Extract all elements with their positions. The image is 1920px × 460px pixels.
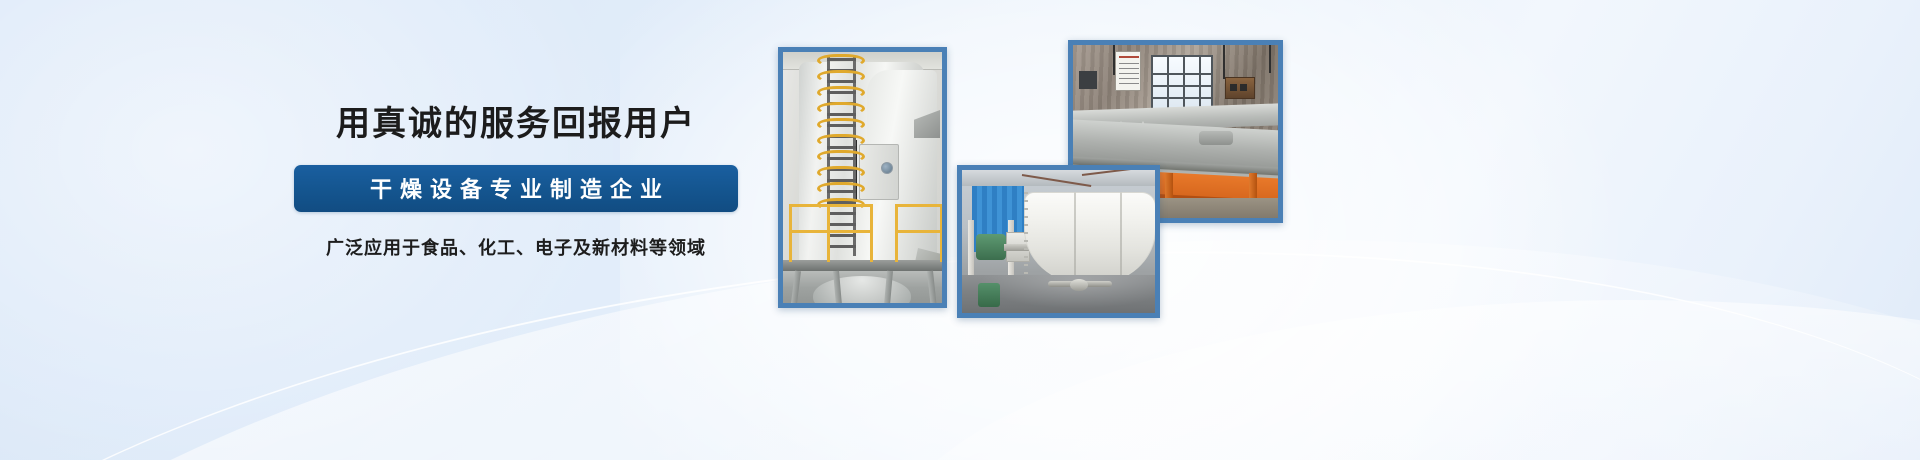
guardrail-midbar-right — [895, 230, 942, 233]
ribbon-mixer-scene — [962, 170, 1155, 313]
hero-tagline-bar: 干燥设备专业制造企业 — [294, 165, 738, 212]
guardrail-left — [789, 204, 873, 262]
ladder-cage-hoop — [817, 70, 865, 83]
photo-spray-dryer-tower[interactable] — [778, 47, 947, 308]
guardrail-post-1 — [789, 204, 792, 262]
ladder-cage-hoop — [817, 166, 865, 179]
drive-motor — [976, 234, 1006, 260]
notice-board — [1115, 51, 1141, 91]
control-panel — [1225, 77, 1255, 99]
wall-electrical-box — [1079, 71, 1097, 89]
hero-text-block: 用真诚的服务回报用户 干燥设备专业制造企业 广泛应用于食品、化工、电子及新材料等… — [294, 104, 738, 260]
ladder-cage-hoop — [817, 118, 865, 131]
shed-roof — [962, 170, 1155, 186]
hero-tagline: 干燥设备专业制造企业 — [362, 172, 670, 204]
dryer-sight-glass — [881, 162, 893, 174]
mixer-vessel — [1024, 192, 1155, 284]
background-swoosh-secondary — [880, 300, 1920, 460]
vessel-seam-1 — [1074, 192, 1076, 284]
ceiling-cable-3 — [1269, 45, 1271, 73]
guardrail-post-2 — [827, 204, 830, 262]
hero-subline: 广泛应用于食品、化工、电子及新材料等领域 — [294, 234, 738, 260]
ladder-cage-hoop — [817, 54, 865, 67]
dryer-access-door — [859, 144, 899, 200]
spray-dryer-scene — [783, 52, 942, 303]
secondary-motor — [978, 283, 1000, 307]
guardrail-post-4 — [895, 204, 898, 262]
vessel-rivet-strip — [1024, 192, 1028, 284]
hero-headline: 用真诚的服务回报用户 — [294, 104, 738, 145]
guardrail-post-3 — [870, 204, 873, 262]
ladder-cage-hoop — [817, 102, 865, 115]
hero-banner: 用真诚的服务回报用户 干燥设备专业制造企业 广泛应用于食品、化工、电子及新材料等… — [0, 0, 1920, 460]
body-vent — [1199, 131, 1233, 145]
discharge-valve — [1070, 279, 1088, 291]
ladder-cage-hoop — [817, 134, 865, 147]
photo-ribbon-mixer[interactable] — [957, 165, 1160, 318]
ceiling-cable-2 — [1223, 45, 1225, 79]
guardrail-post-5 — [940, 204, 942, 262]
ladder-cage-hoop — [817, 182, 865, 195]
guardrail-midbar-left — [789, 230, 873, 233]
guardrail-right — [895, 204, 942, 262]
vessel-seam-2 — [1120, 192, 1122, 284]
ladder-cage-hoop — [817, 150, 865, 163]
barred-window — [1151, 55, 1213, 111]
ladder-cage-hoop — [817, 86, 865, 99]
